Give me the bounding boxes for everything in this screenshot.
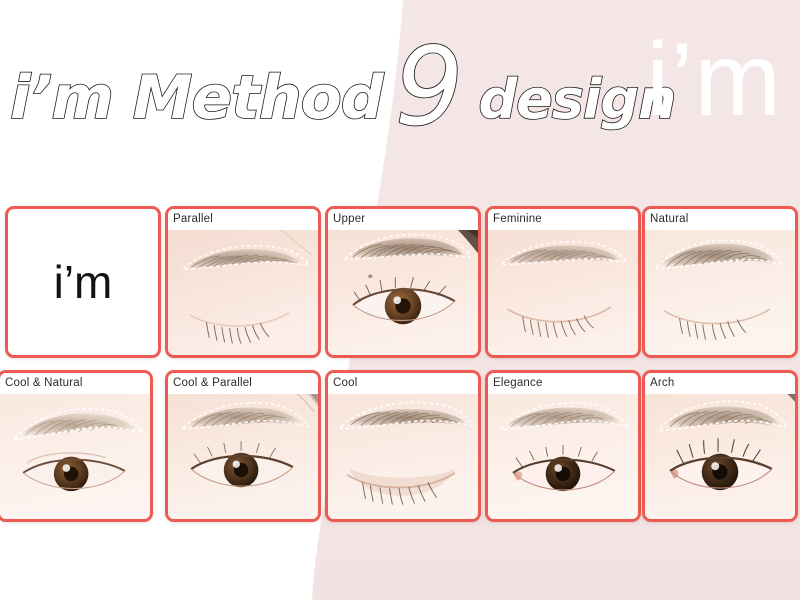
design-grid-row-2: Cool & Natural: [0, 370, 800, 522]
card-label: Cool & Parallel: [168, 373, 318, 394]
brand-watermark: i’m: [646, 28, 782, 132]
card-cool[interactable]: Cool: [325, 370, 481, 522]
card-natural[interactable]: Natural: [642, 206, 798, 358]
card-cool-natural[interactable]: Cool & Natural: [0, 370, 153, 522]
brand-logo-text: i’m: [54, 259, 113, 305]
card-brand-logo[interactable]: i’m: [5, 206, 161, 358]
eye-photo-cool: [328, 373, 478, 519]
card-label: Cool: [328, 373, 478, 394]
page-title: i’m Method 9 design: [10, 52, 675, 130]
card-label: Parallel: [168, 209, 318, 230]
card-parallel[interactable]: Parallel: [165, 206, 321, 358]
card-label: Feminine: [488, 209, 638, 230]
eye-photo-upper: [328, 209, 478, 355]
card-elegance[interactable]: Elegance: [485, 370, 641, 522]
card-label: Elegance: [488, 373, 638, 394]
eye-photo-natural: [645, 209, 795, 355]
eye-photo-cool-natural: [0, 373, 150, 519]
design-grid-row-1: i’m: [0, 206, 800, 358]
eye-photo-feminine: [488, 209, 638, 355]
card-arch[interactable]: Arch: [642, 370, 798, 522]
header: i’m Method 9 design i’m: [0, 0, 800, 185]
title-number-nine: 9: [395, 58, 463, 118]
eye-photo-elegance: [488, 373, 638, 519]
poster-canvas: i’m Method 9 design i’m i’m: [0, 0, 800, 600]
card-feminine[interactable]: Feminine: [485, 206, 641, 358]
card-label: Arch: [645, 373, 795, 394]
title-method: i’m Method: [10, 68, 383, 128]
card-label: Upper: [328, 209, 478, 230]
eye-photo-cool-parallel: [168, 373, 318, 519]
card-label: Cool & Natural: [0, 373, 150, 394]
eye-photo-parallel: [168, 209, 318, 355]
card-label: Natural: [645, 209, 795, 230]
eye-photo-arch: [645, 373, 795, 519]
card-upper[interactable]: Upper: [325, 206, 481, 358]
card-cool-parallel[interactable]: Cool & Parallel: [165, 370, 321, 522]
